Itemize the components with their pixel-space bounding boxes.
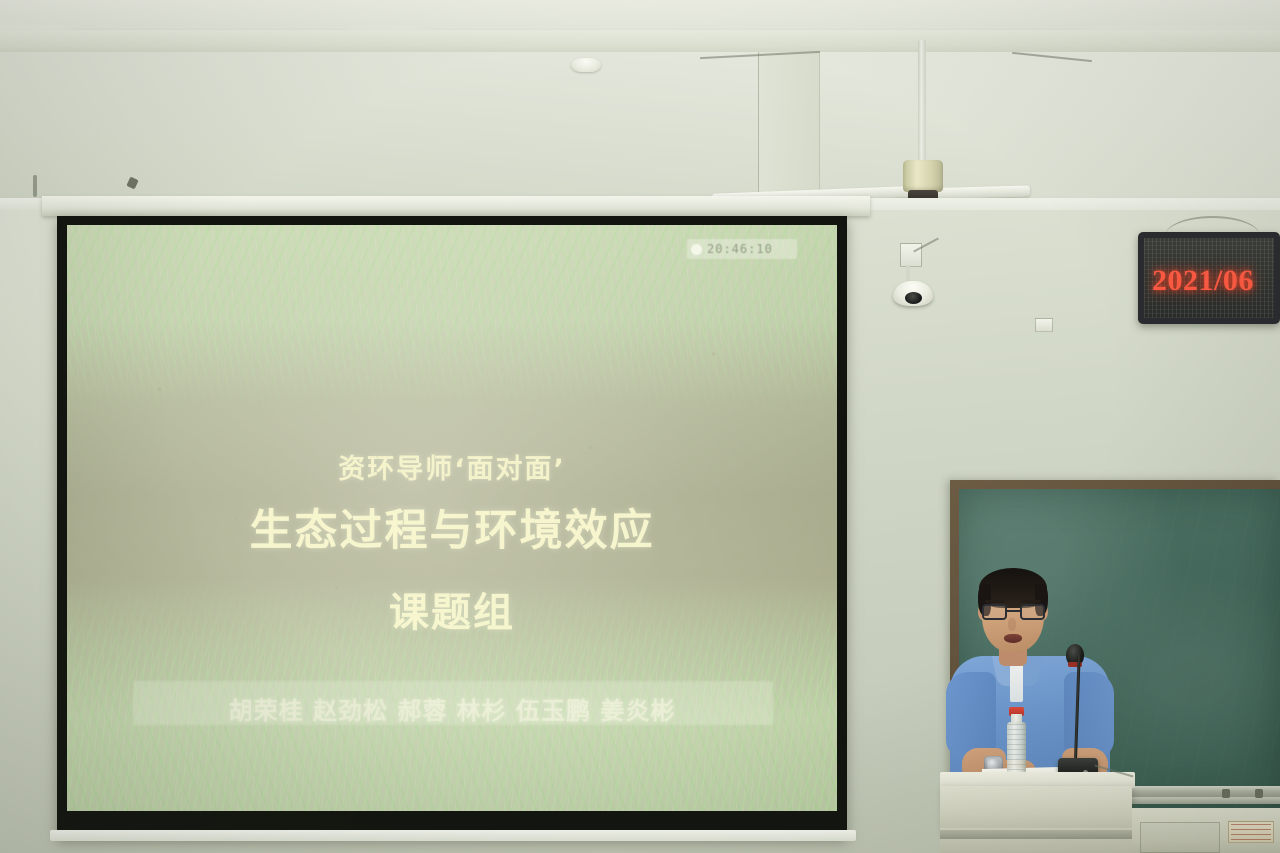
chalk-tray-clip [1222,789,1230,798]
wall-socket [1035,318,1053,332]
slide-authors: 胡荣桂 赵劲松 郝蓉 林杉 伍玉鹏 姜炎彬 [67,691,837,726]
presenter [940,560,1170,790]
chalk-tray-lip [1118,797,1280,804]
projection-screen-housing [42,196,870,216]
presenter-mouth [1004,634,1022,643]
chalk-tray-clip [1255,789,1263,798]
presenter-sleeve-left [946,672,996,758]
ceiling-fan-rod [918,40,926,165]
presenter-eyebrow-left [985,600,1005,603]
led-sign-text: 2021/06 [1152,264,1254,298]
video-timestamp-overlay: 20:46:10 [687,239,797,259]
presenter-nose [1008,618,1016,631]
glasses-lens-left [982,604,1007,620]
presenter-eyebrow-right [1021,600,1041,603]
camera-lens-icon [905,292,922,304]
ceiling-slab [0,0,1280,34]
teaching-console-panel [1140,822,1220,853]
ceiling-fan-motor [903,160,943,192]
presenter-shirt-placket [1010,664,1023,702]
presentation-slide: 资环导师‘面对面’ 生态过程与环境效应 课题组 胡荣桂 赵劲松 郝蓉 林杉 伍玉… [67,225,837,811]
lectern-body [940,786,1132,832]
glasses-lens-right [1020,604,1045,620]
lectern-rail [940,830,1140,839]
slide-subtitle: 资环导师‘面对面’ [338,447,566,486]
wristwatch-face [987,759,999,769]
presenter-sleeve-right [1064,672,1114,758]
glasses-bridge [1007,610,1020,612]
projection-screen: 资环导师‘面对面’ 生态过程与环境效应 课题组 胡荣桂 赵劲松 郝蓉 林杉 伍玉… [57,216,847,838]
smoke-detector-icon [571,58,601,72]
video-timestamp-text: 20:46:10 [707,242,773,256]
screen-mount-hook [33,175,37,197]
projection-screen-weight-bar [50,830,856,841]
play-icon [691,244,702,255]
slide-title-line2: 课题组 [389,580,515,638]
lecture-hall-scene: 2021/06 资环导师‘面对面’ 生态过程与环境效应 课题组 胡荣桂 赵劲松 … [0,0,1280,853]
ceiling-duct-panel [758,52,820,207]
equipment-sticker-text [1231,824,1271,840]
slide-title-line1: 生态过程与环境效应 [250,496,655,558]
equipment-sticker [1228,821,1274,843]
led-date-sign: 2021/06 [1138,232,1280,324]
